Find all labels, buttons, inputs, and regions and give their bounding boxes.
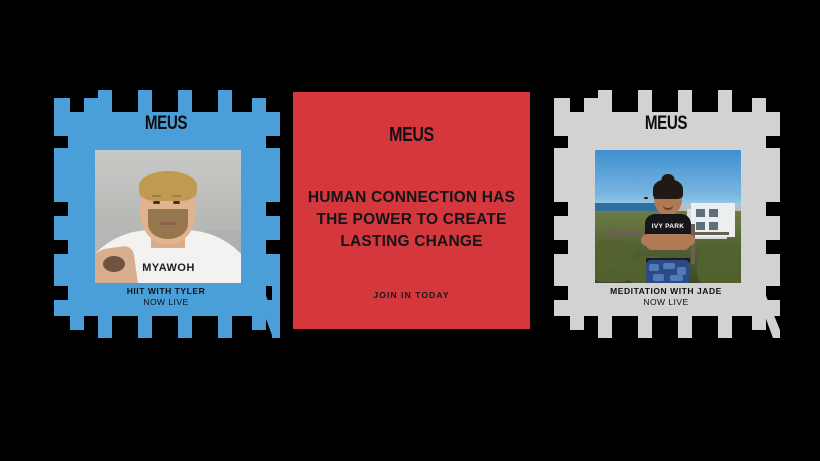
tyler-mouth bbox=[161, 222, 176, 225]
jade-figure: IVY PARK bbox=[637, 182, 699, 283]
jade-shorts bbox=[646, 260, 690, 283]
quote-card[interactable]: MEUS HUMAN CONNECTION HAS THE POWER TO C… bbox=[293, 92, 530, 329]
poster-canvas: HOWAYM MEUS HIIT WITH TYLER NOW LIVE MEU… bbox=[0, 0, 820, 461]
tyler-shirt-text: HOWAYM bbox=[142, 262, 195, 274]
tyler-eye-right bbox=[173, 201, 180, 205]
headline-line-1: HUMAN CONNECTION HAS bbox=[303, 187, 520, 209]
tyler-hair bbox=[139, 171, 197, 201]
instructor-photo-tyler: HOWAYM bbox=[95, 150, 241, 283]
tyler-illustration: HOWAYM bbox=[95, 150, 241, 283]
jade-eye-right bbox=[654, 197, 658, 199]
jade-illustration: IVY PARK bbox=[595, 150, 741, 283]
quote-headline: HUMAN CONNECTION HAS THE POWER TO CREATE… bbox=[303, 187, 520, 253]
tyler-brow-left bbox=[152, 195, 161, 197]
tyler-eye-left bbox=[153, 201, 160, 205]
jade-shrub bbox=[697, 243, 741, 283]
live-status: NOW LIVE bbox=[40, 297, 292, 308]
cta-text[interactable]: JOIN IN TODAY bbox=[293, 290, 530, 300]
jade-crossed-arms bbox=[641, 234, 695, 246]
card-caption: HIIT WITH TYLER NOW LIVE bbox=[40, 286, 292, 308]
card-caption: MEDITATION WITH JADE NOW LIVE bbox=[540, 286, 792, 308]
brand-wordmark: MEUS bbox=[65, 114, 267, 133]
brand-wordmark: MEUS bbox=[317, 125, 507, 145]
brand-wordmark: MEUS bbox=[565, 114, 767, 133]
class-title: MEDITATION WITH JADE bbox=[540, 286, 792, 297]
headline-line-3: LASTING CHANGE bbox=[303, 231, 520, 253]
headline-line-2: THE POWER TO CREATE bbox=[303, 209, 520, 231]
instructor-photo-jade: IVY PARK bbox=[595, 150, 741, 283]
live-status: NOW LIVE bbox=[540, 297, 792, 308]
jade-eye-left bbox=[644, 197, 648, 199]
class-card-meditation[interactable]: IVY PARK MEUS MEDITA bbox=[540, 90, 792, 338]
jade-hair bbox=[653, 179, 683, 199]
jade-top-text: IVY PARK bbox=[652, 223, 685, 230]
tyler-brow-right bbox=[172, 195, 181, 197]
class-title: HIIT WITH TYLER bbox=[40, 286, 292, 297]
class-card-hiit[interactable]: HOWAYM MEUS HIIT WITH TYLER NOW LIVE bbox=[40, 90, 292, 338]
